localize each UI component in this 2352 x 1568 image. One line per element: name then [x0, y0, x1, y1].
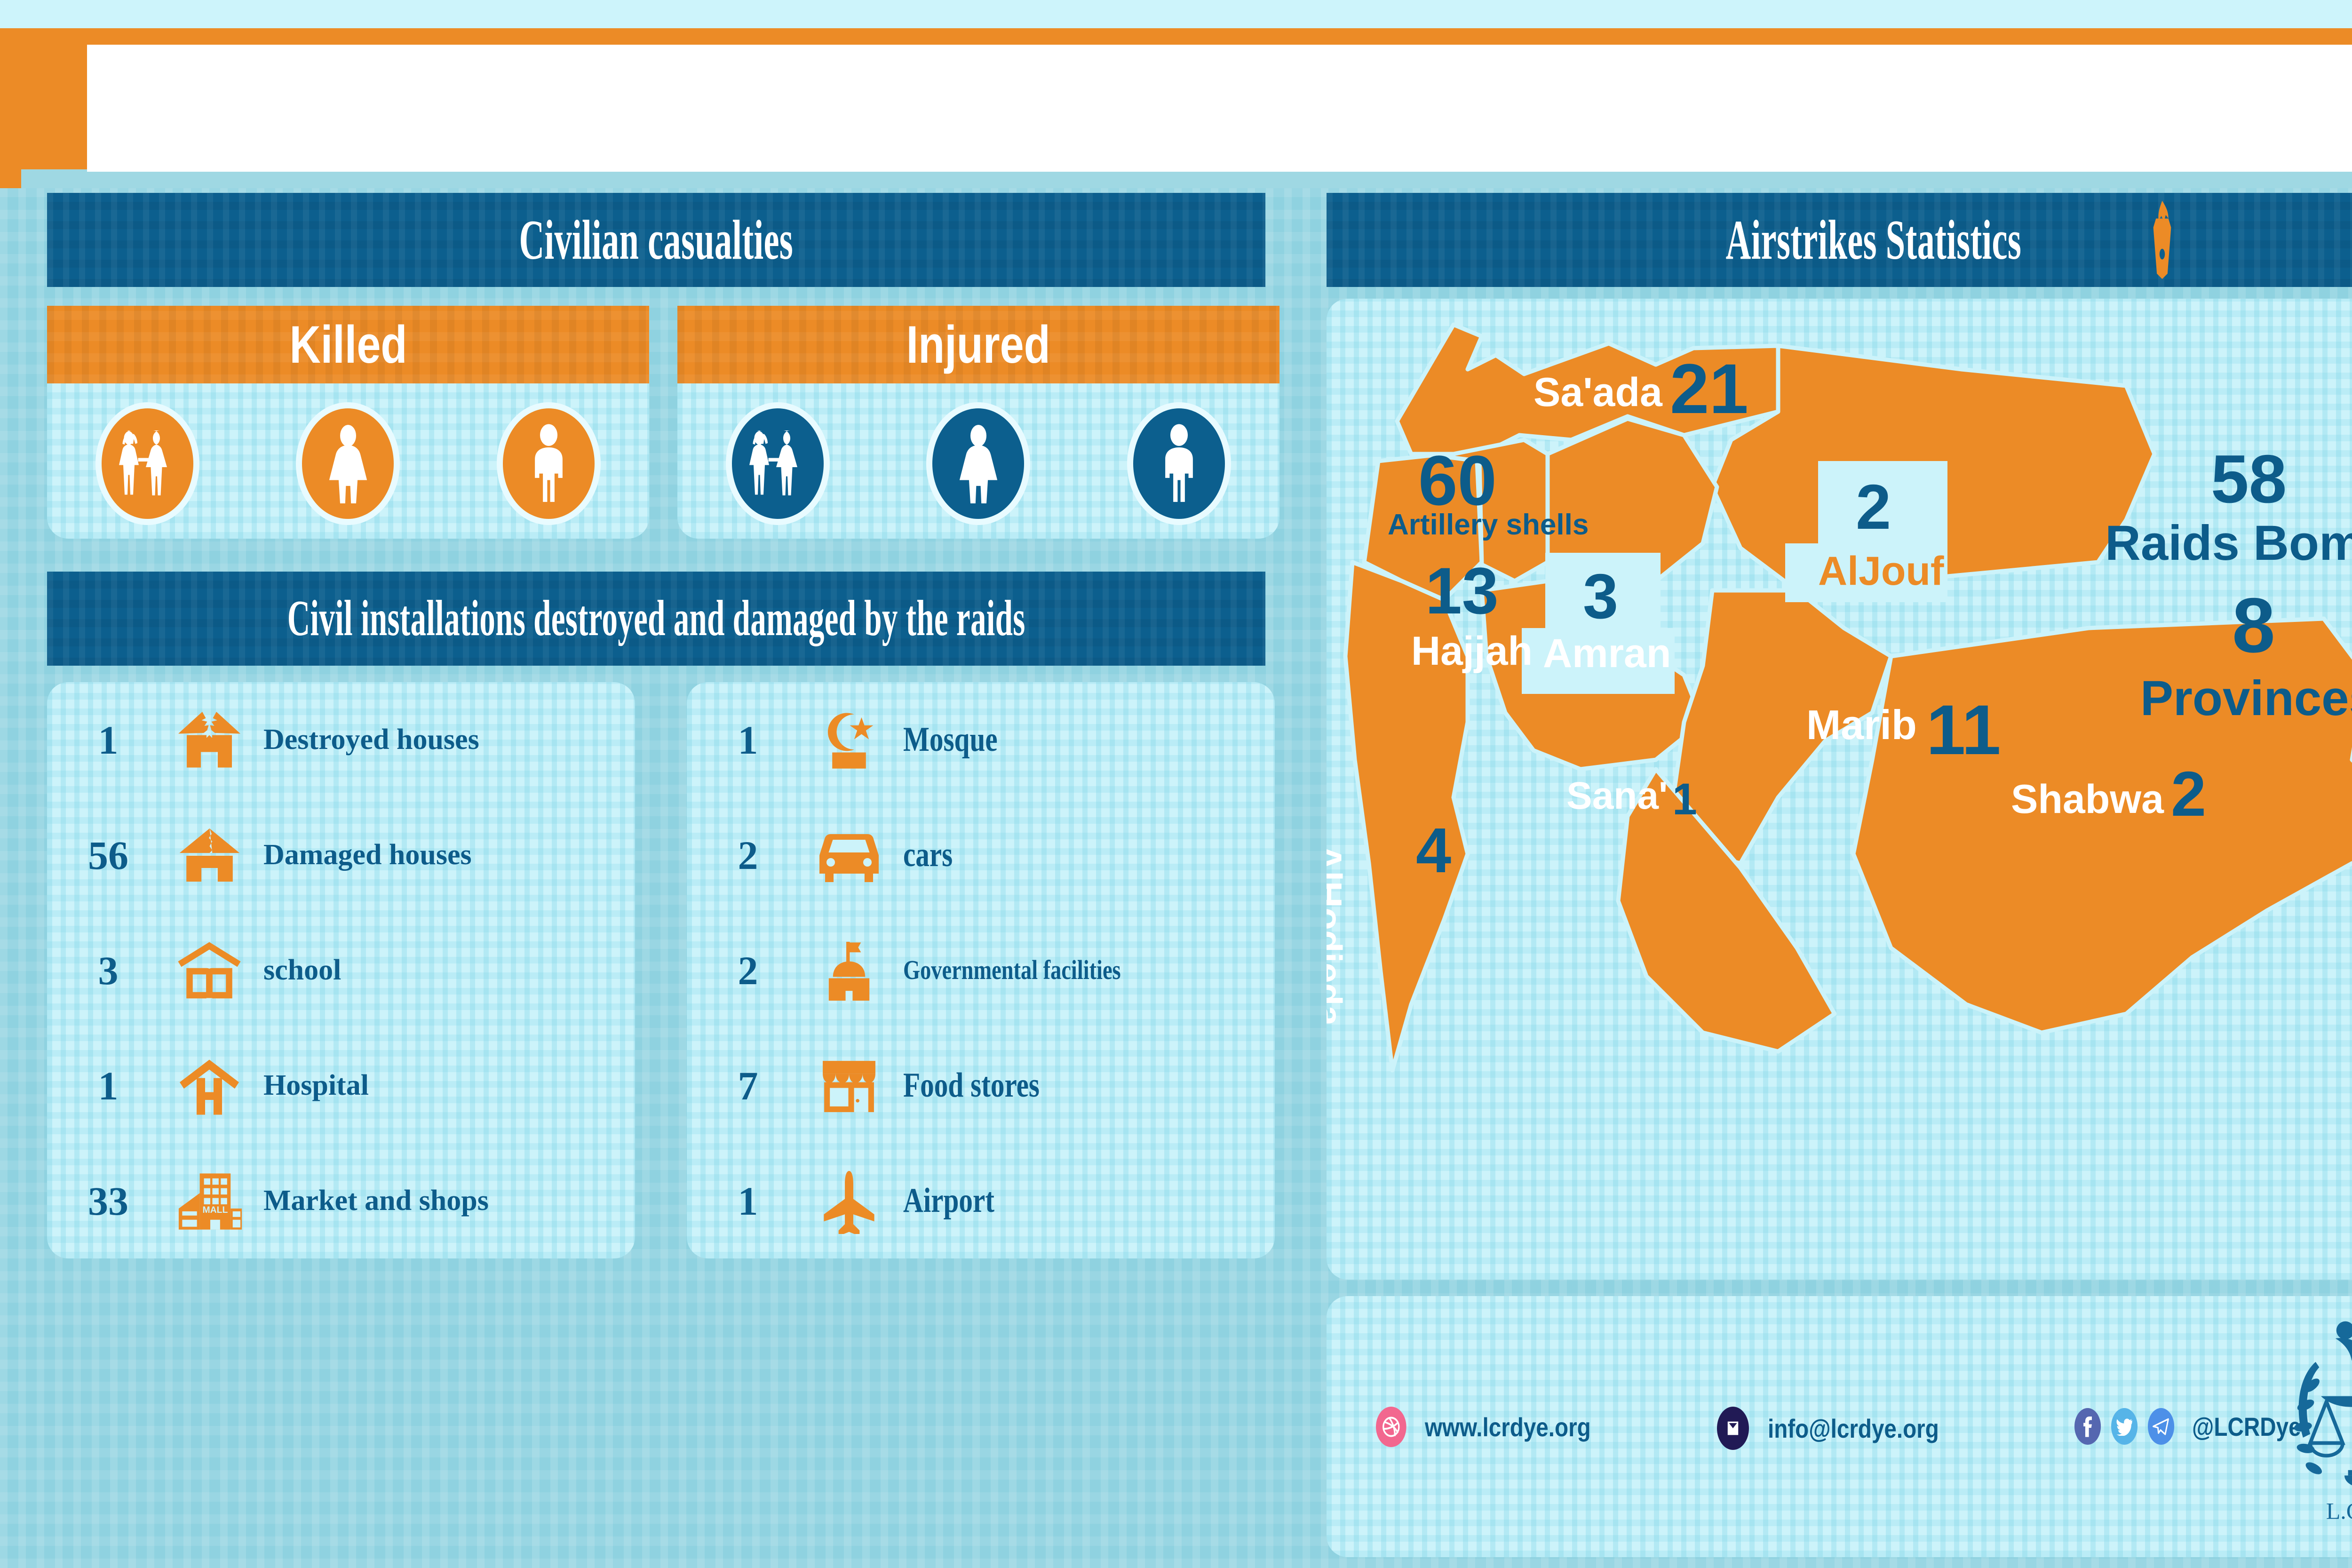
map-value-saada: 21 [1670, 348, 1748, 430]
map-label-shabwa: Shabwa [2011, 776, 2164, 823]
installation-count: 33 [61, 1178, 155, 1225]
map-label-sana: Sana' [1566, 774, 1668, 818]
map-value-shabwa: 2 [2171, 757, 2206, 830]
email-text: info@lcrdye.org [1768, 1413, 1939, 1444]
installation-label: Market and shops [263, 1186, 489, 1216]
map-value-amran: 3 [1583, 560, 1618, 633]
installation-count: 1 [701, 716, 795, 764]
school-icon [155, 940, 263, 1001]
installation-count: 1 [701, 1178, 795, 1225]
installation-label: Hospital [263, 1070, 369, 1101]
civilian-casualties-title: Civilian casualties [519, 207, 794, 272]
list-item: 1 Airport [687, 1143, 1275, 1258]
map-value-alhodieda: 4 [1416, 814, 1451, 887]
map-label-amran: Amran [1543, 630, 1671, 677]
list-item: 7 Food stores [687, 1028, 1275, 1143]
installation-count: 7 [701, 1062, 795, 1109]
killed-icon-row [47, 409, 649, 517]
killed-body [47, 383, 649, 539]
destroyed-house-icon [155, 709, 263, 771]
installation-label: Damaged houses [263, 840, 472, 870]
installation-count: 56 [61, 832, 155, 879]
lcrd-logo: L.C.R.D [2258, 1315, 2352, 1536]
list-item: 33 MALL [47, 1143, 635, 1258]
list-item: 3 school [47, 913, 635, 1028]
list-item: 2 Governmental facilities [687, 913, 1275, 1028]
injured-header: Injured [677, 306, 1279, 383]
map-value-sana: 1 [1672, 774, 1697, 825]
left-panel: Civilian casualties Killed [0, 181, 1289, 1568]
woman-icon [302, 408, 394, 519]
svg-text:MALL: MALL [202, 1205, 228, 1215]
injured-title: Injured [906, 314, 1050, 375]
telegram-icon[interactable] [2148, 1408, 2174, 1445]
raids-bombed-value: 58 [2211, 440, 2287, 518]
right-panel: Airstrikes Statistics [1317, 181, 2352, 1568]
logo-abbr: L.C.R.D [2326, 1498, 2352, 1524]
facebook-icon[interactable] [2074, 1408, 2101, 1445]
map-value-marib: 11 [1926, 689, 2001, 771]
map-label-aljouf: AlJouf [1818, 548, 1944, 595]
installation-label: school [263, 955, 341, 986]
installation-label: Mosque [903, 722, 998, 758]
government-icon [795, 938, 903, 1003]
killed-header: Killed [47, 306, 649, 383]
installation-label: Governmental facilities [903, 956, 1121, 985]
civilian-casualties-header: Civilian casualties [47, 193, 1265, 287]
list-item: 1 Hospital [47, 1028, 635, 1143]
installations-title: Civil installations destroyed and damage… [287, 589, 1025, 648]
dribbble-icon [1376, 1407, 1406, 1447]
email-link[interactable]: info@lcrdye.org [1717, 1407, 1969, 1450]
title-banner [87, 45, 2352, 172]
killed-section: Killed [47, 306, 649, 539]
installation-count: 2 [701, 947, 795, 994]
map-label-saada: Sa'ada [1534, 369, 1662, 416]
installation-label: Airport [903, 1183, 994, 1219]
installations-right-card: 1 Mosque 2 [687, 682, 1275, 1258]
yemen-map-card: Sa'ada 21 60 Artillery shells 2 AlJouf 1… [1327, 299, 2352, 1280]
footer-card: www.lcrdye.org info@lcrdye.org [1327, 1296, 2352, 1557]
website-link[interactable]: www.lcrdye.org [1376, 1407, 1620, 1447]
page-title [87, 45, 2352, 73]
mall-icon: MALL [155, 1169, 263, 1233]
website-text: www.lcrdye.org [1425, 1412, 1591, 1442]
airplane-icon [795, 1168, 903, 1234]
list-item: 1 Mosque [687, 682, 1275, 797]
provinces-label: Provinces [2140, 670, 2352, 727]
map-label-hajjah: Hajjah [1411, 628, 1533, 675]
car-icon [795, 827, 903, 883]
installations-left-card: 1 Destroyed houses 56 [47, 682, 635, 1258]
injured-section: Injured [677, 306, 1279, 539]
injured-icon-row [677, 409, 1279, 517]
list-item: 1 Destroyed houses [47, 682, 635, 797]
installation-count: 1 [61, 716, 155, 764]
envelope-icon [1717, 1407, 1749, 1450]
installations-header: Civil installations destroyed and damage… [47, 572, 1265, 666]
map-value-hajjah: 13 [1425, 553, 1499, 629]
top-strip [0, 0, 2352, 28]
orange-frame-left [0, 28, 21, 188]
installation-count: 3 [61, 947, 155, 994]
killed-title: Killed [289, 314, 407, 375]
mosque-icon [795, 707, 903, 773]
family-icon [102, 408, 193, 519]
map-value-aljouf: 2 [1856, 470, 1891, 543]
installation-count: 1 [61, 1062, 155, 1109]
map-label-alhodieda: AlHodieda [1327, 844, 1350, 1026]
list-item: 2 cars [687, 797, 1275, 913]
provinces-value: 8 [2232, 581, 2275, 670]
hospital-icon [155, 1055, 263, 1116]
airstrikes-header: Airstrikes Statistics [1327, 193, 2352, 287]
installation-label: Food stores [903, 1067, 1040, 1104]
store-icon [795, 1055, 903, 1116]
man-icon [1133, 408, 1225, 519]
list-item: 56 Damaged houses [47, 797, 635, 913]
injured-body [677, 383, 1279, 539]
installation-label: cars [903, 837, 953, 874]
woman-icon [932, 408, 1024, 519]
map-label-marib: Marib [1806, 701, 1917, 749]
artillery-label: Artillery shells [1388, 508, 1589, 541]
installation-count: 2 [701, 832, 795, 879]
family-icon [732, 408, 824, 519]
man-icon [503, 408, 595, 519]
damaged-house-icon [155, 826, 263, 884]
raids-bombed-label: Raids Bombed [2105, 515, 2352, 572]
missile-icon [2140, 199, 2185, 281]
airstrikes-title: Airstrikes Statistics [1725, 207, 2021, 272]
infographic-page: Civilian casualties Killed [0, 0, 2352, 1568]
twitter-icon[interactable] [2111, 1408, 2137, 1445]
installation-label: Destroyed houses [263, 724, 479, 755]
